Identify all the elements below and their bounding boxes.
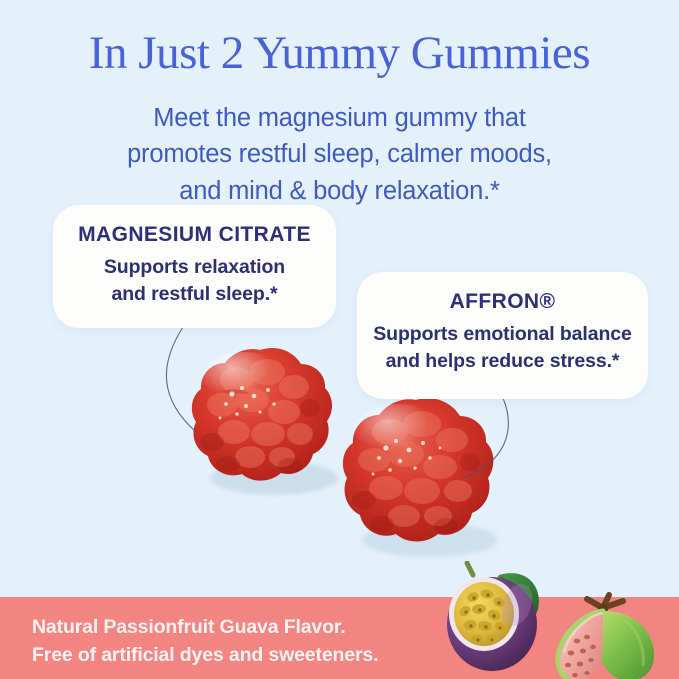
subheading: Meet the magnesium gummy that promotes r… [0, 100, 679, 209]
raspberry-gummy-left [182, 342, 342, 497]
callout-card-magnesium-citrate[interactable]: MAGNESIUM CITRATE Supports relaxation an… [53, 205, 336, 328]
callout-line-2: and helps reduce stress.* [357, 348, 648, 375]
callout-card-affron[interactable]: AFFRON® Supports emotional balance and h… [357, 272, 648, 399]
page-title: In Just 2 Yummy Gummies [0, 26, 679, 80]
subheading-line-1: Meet the magnesium gummy that [0, 100, 679, 136]
callout-line-1: Supports relaxation [53, 254, 336, 281]
promo-image: In Just 2 Yummy Gummies Meet the magnesi… [0, 0, 679, 679]
banner-line-1: Natural Passionfruit Guava Flavor. [32, 614, 378, 642]
callout-line-1: Supports emotional balance [357, 321, 648, 348]
callout-title: MAGNESIUM CITRATE [53, 222, 336, 248]
banner-text: Natural Passionfruit Guava Flavor. Free … [32, 614, 378, 669]
callout-line-2: and restful sleep.* [53, 281, 336, 308]
subheading-line-2: promotes restful sleep, calmer moods, [0, 136, 679, 172]
raspberry-gummy-right [332, 392, 504, 560]
banner-line-2: Free of artificial dyes and sweeteners. [32, 642, 378, 670]
callout-title: AFFRON® [357, 289, 648, 315]
fruit-illustration [437, 561, 679, 679]
subheading-line-3: and mind & body relaxation.* [0, 173, 679, 209]
